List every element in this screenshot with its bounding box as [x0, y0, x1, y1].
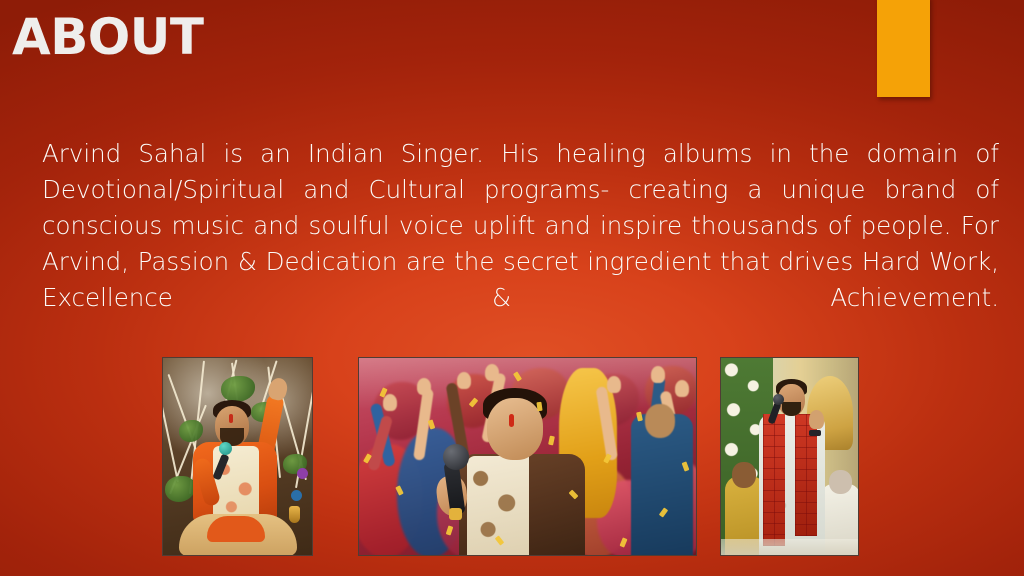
tilak-mark: [229, 414, 233, 423]
seated-guest-head: [732, 462, 756, 488]
photo-1-scene: [163, 358, 312, 555]
audience-head: [645, 404, 675, 438]
slide-about: ABOUT Arvind Sahal is an Indian Singer. …: [0, 0, 1024, 576]
singer-head: [487, 398, 543, 460]
wristwatch: [809, 430, 821, 436]
photo-seated-singer: [162, 357, 313, 556]
floor-strip: [721, 539, 859, 555]
tilak-mark: [509, 414, 514, 427]
microphone-tip: [449, 508, 462, 520]
gesturing-hand: [809, 410, 824, 429]
microphone-head: [773, 394, 784, 405]
hanging-bell: [289, 506, 300, 523]
orange-accent-rectangle: [877, 0, 930, 97]
decor-orb: [297, 468, 308, 479]
raised-hand: [457, 372, 471, 389]
red-stole-left: [763, 414, 785, 546]
singer-lap: [207, 516, 265, 542]
page-title: ABOUT: [12, 8, 204, 66]
photo-crowd-performance: [358, 357, 697, 556]
microphone-head: [219, 442, 232, 455]
seated-guest-head: [829, 470, 852, 494]
photo-strip: [0, 357, 1024, 557]
photo-3-scene: [721, 358, 858, 555]
raised-hand: [607, 376, 621, 393]
raised-hand: [651, 366, 665, 383]
raised-hand: [417, 378, 431, 395]
decor-orb: [291, 490, 302, 501]
raised-hand: [675, 380, 689, 397]
singer-beard: [782, 402, 801, 416]
photo-2-scene: [359, 358, 696, 555]
raised-hand: [383, 394, 397, 411]
about-paragraph: Arvind Sahal is an Indian Singer. His he…: [42, 136, 999, 352]
raised-hand: [485, 364, 499, 381]
photo-standing-singer: [720, 357, 859, 556]
microphone-head: [443, 444, 469, 470]
